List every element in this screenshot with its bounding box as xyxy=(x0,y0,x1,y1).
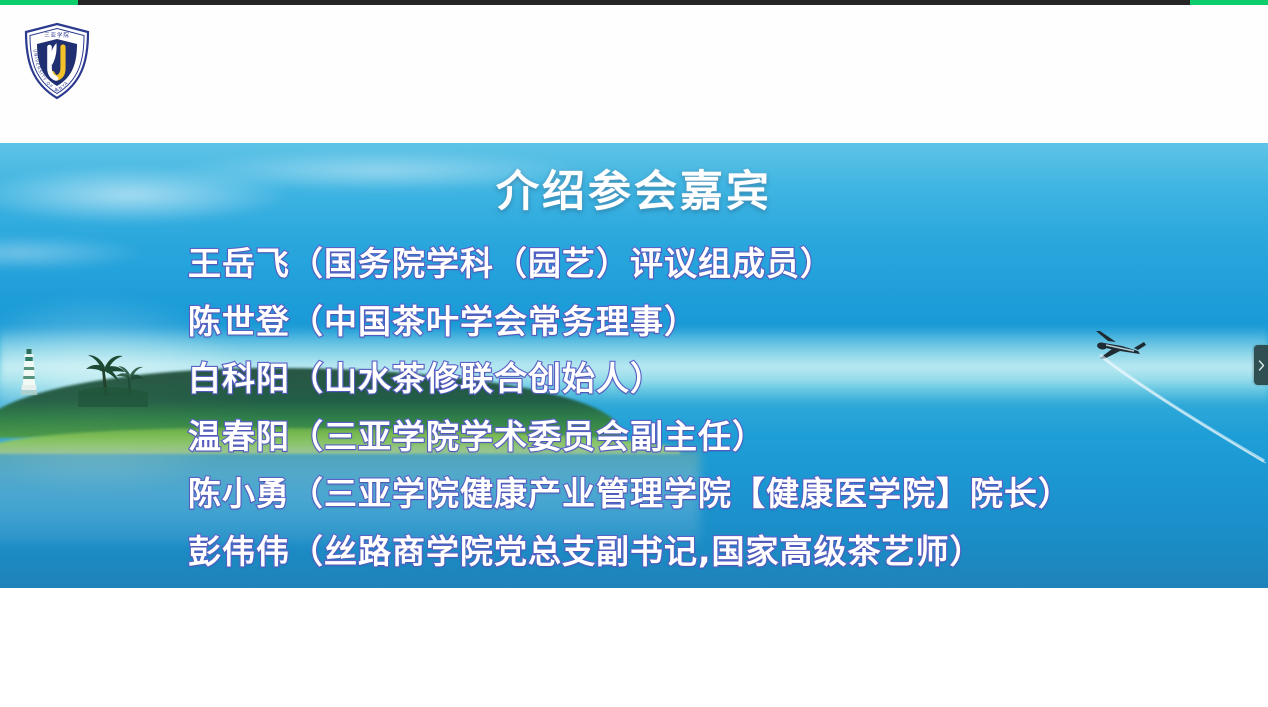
svg-text:三亚学院: 三亚学院 xyxy=(44,31,70,39)
progress-segment-right[interactable] xyxy=(1190,0,1268,5)
presentation-slide[interactable]: 介绍参会嘉宾 王岳飞（国务院学科（园艺）评议组成员） 陈世登（中国茶叶学会常务理… xyxy=(0,143,1268,588)
list-item: 温春阳（三亚学院学术委员会副主任） xyxy=(188,408,1248,466)
header-band: 三亚学院 UNIVERSITY OF SANYA xyxy=(0,5,1268,143)
list-item: 陈小勇（三亚学院健康产业管理学院【健康医学院】院长） xyxy=(188,465,1248,523)
university-logo: 三亚学院 UNIVERSITY OF SANYA xyxy=(22,21,92,101)
list-item: 王岳飞（国务院学科（园艺）评议组成员） xyxy=(188,235,1248,293)
list-item: 白科阳（山水茶修联合创始人） xyxy=(188,350,1248,408)
progress-segment-left[interactable] xyxy=(0,0,78,5)
list-item: 彭伟伟（丝路商学院党总支副书记,国家高级茶艺师） xyxy=(188,523,1248,581)
list-item: 陈世登（中国茶叶学会常务理事） xyxy=(188,293,1248,351)
guest-list: 王岳飞（国务院学科（园艺）评议组成员） 陈世登（中国茶叶学会常务理事） 白科阳（… xyxy=(188,235,1248,580)
slide-title: 介绍参会嘉宾 xyxy=(0,157,1268,219)
top-progress-bar[interactable] xyxy=(0,0,1268,5)
chevron-right-icon xyxy=(1258,360,1265,371)
drawer-toggle-button[interactable] xyxy=(1254,345,1268,385)
page-body-blank xyxy=(0,588,1268,707)
slide-text-layer: 介绍参会嘉宾 王岳飞（国务院学科（园艺）评议组成员） 陈世登（中国茶叶学会常务理… xyxy=(0,143,1268,588)
